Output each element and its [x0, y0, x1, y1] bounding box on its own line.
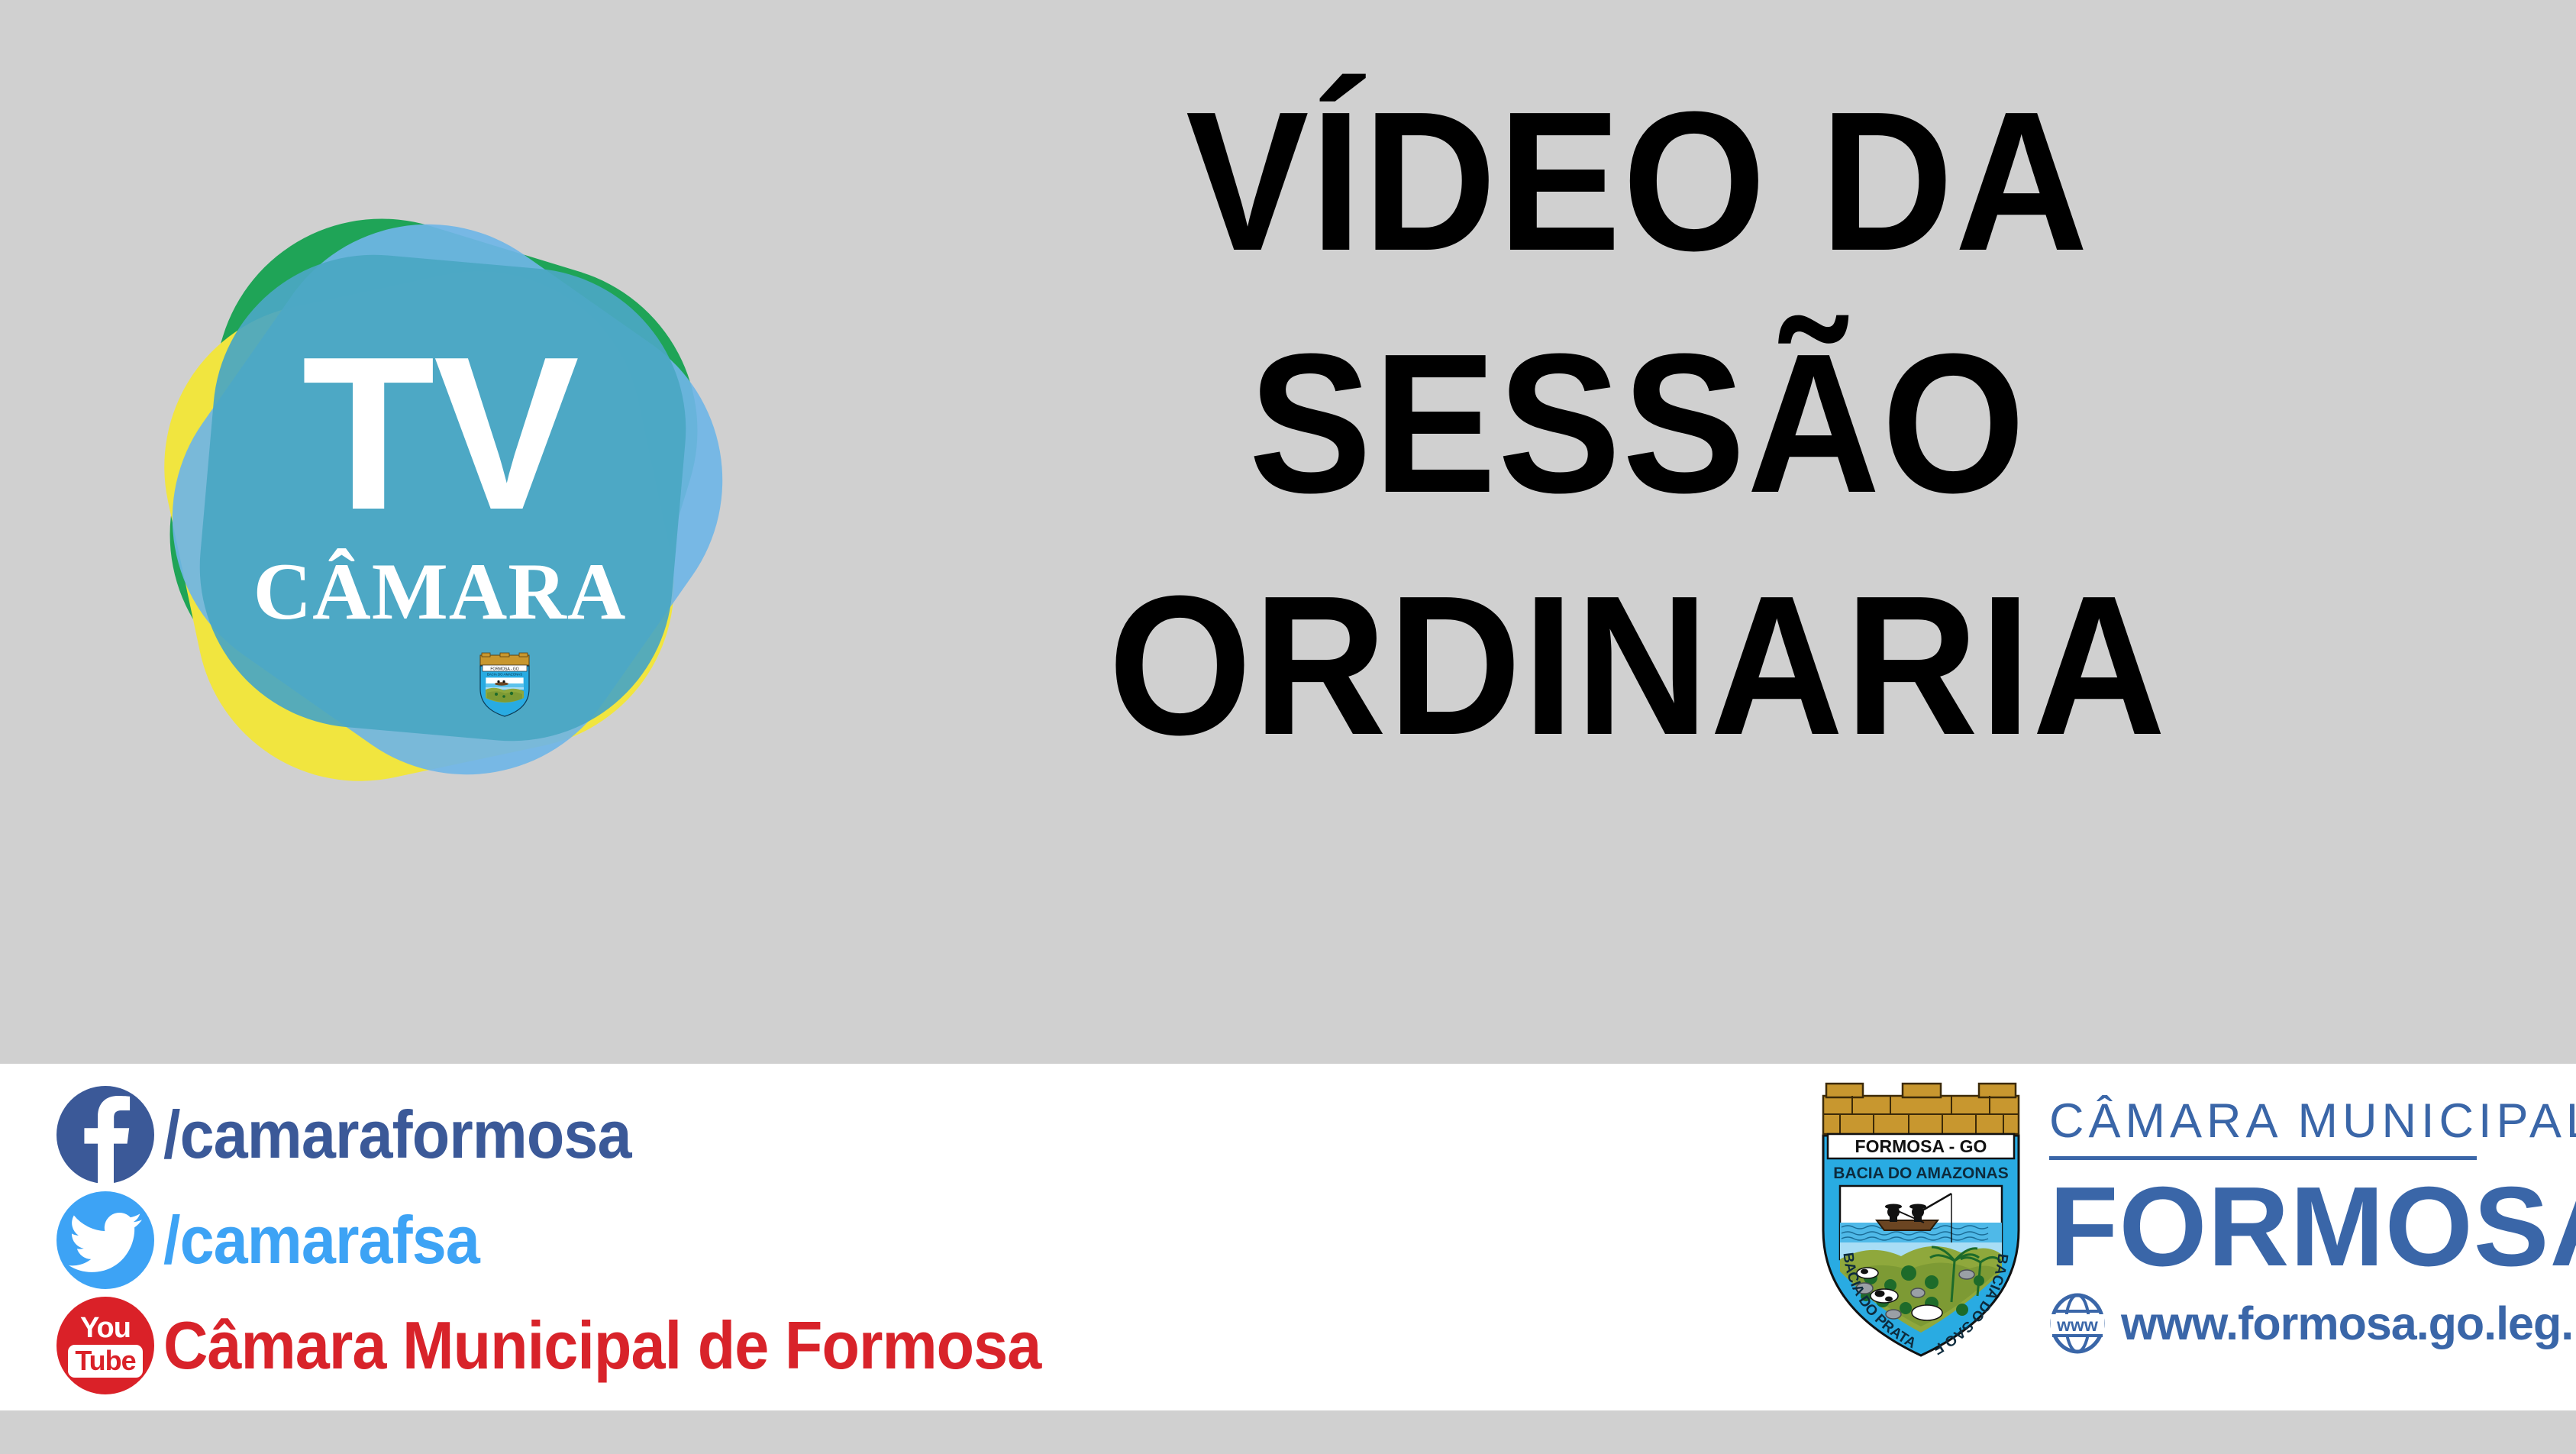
twitter-icon[interactable]: [56, 1191, 154, 1289]
youtube-glyph-tube: Tube: [68, 1345, 142, 1378]
brand-line-camara-municipal: CÂMARA MUNICIPAL: [2049, 1097, 2576, 1145]
tv-logo-primary-text: TV: [150, 344, 730, 523]
formosa-coat-of-arms-icon: FORMOSA - GO BACIA DO AMAZONAS: [478, 652, 531, 718]
tv-logo-secondary-text: CÂMARA: [150, 551, 730, 632]
www-globe-icon: www: [2049, 1293, 2106, 1354]
twitter-handle-label[interactable]: /camarafsa: [163, 1201, 479, 1279]
social-row-facebook[interactable]: /camaraformosa: [56, 1082, 1117, 1187]
crest-banner-text: FORMOSA - GO: [1855, 1136, 1987, 1156]
video-session-title-card: TV CÂMARA FORMOSA - GO BACIA DO AMAZONAS: [0, 0, 2576, 1454]
crest-top-label: BACIA DO AMAZONAS: [1833, 1165, 2008, 1182]
footer-section: /camaraformosa /camarafsa You Tube Câ: [0, 1064, 2576, 1410]
svg-text:www: www: [2056, 1315, 2098, 1335]
bottom-gray-strip: [0, 1410, 2576, 1454]
facebook-icon[interactable]: [56, 1086, 154, 1184]
title-line-3: ORDINARIA: [811, 545, 2465, 787]
tv-camara-logo: TV CÂMARA FORMOSA - GO BACIA DO AMAZONAS: [150, 215, 730, 796]
facebook-handle-label[interactable]: /camaraformosa: [163, 1096, 631, 1174]
youtube-channel-label[interactable]: Câmara Municipal de Formosa: [163, 1307, 1041, 1385]
camara-formosa-brand-logo: FORMOSA - GO BACIA DO AMAZONAS: [1817, 1081, 2576, 1362]
formosa-coat-of-arms: FORMOSA - GO BACIA DO AMAZONAS: [1817, 1081, 2025, 1362]
website-row[interactable]: www www.formosa.go.leg.br: [2049, 1293, 2576, 1354]
brand-line-formosa: FORMOSA: [2049, 1166, 2576, 1288]
hero-section: TV CÂMARA FORMOSA - GO BACIA DO AMAZONAS: [0, 0, 2576, 1064]
page-title: VÍDEO DA SESSÃO ORDINARIA: [811, 61, 2465, 788]
social-links-list: /camaraformosa /camarafsa You Tube Câ: [56, 1082, 1117, 1398]
title-line-2: SESSÃO: [811, 303, 2465, 545]
youtube-icon[interactable]: You Tube: [56, 1297, 154, 1394]
svg-text:BACIA DO AMAZONAS: BACIA DO AMAZONAS: [487, 673, 522, 677]
social-row-twitter[interactable]: /camarafsa: [56, 1187, 1117, 1293]
youtube-glyph-you: You: [80, 1313, 131, 1343]
title-line-1: VÍDEO DA: [811, 61, 2465, 303]
website-url-label[interactable]: www.formosa.go.leg.br: [2121, 1297, 2576, 1350]
social-row-youtube[interactable]: You Tube Câmara Municipal de Formosa: [56, 1293, 1117, 1398]
brand-divider-rule: [2049, 1156, 2477, 1160]
svg-text:FORMOSA - GO: FORMOSA - GO: [490, 667, 518, 671]
brand-text-block: CÂMARA MUNICIPAL FORMOSA www www.formosa…: [2049, 1081, 2576, 1354]
